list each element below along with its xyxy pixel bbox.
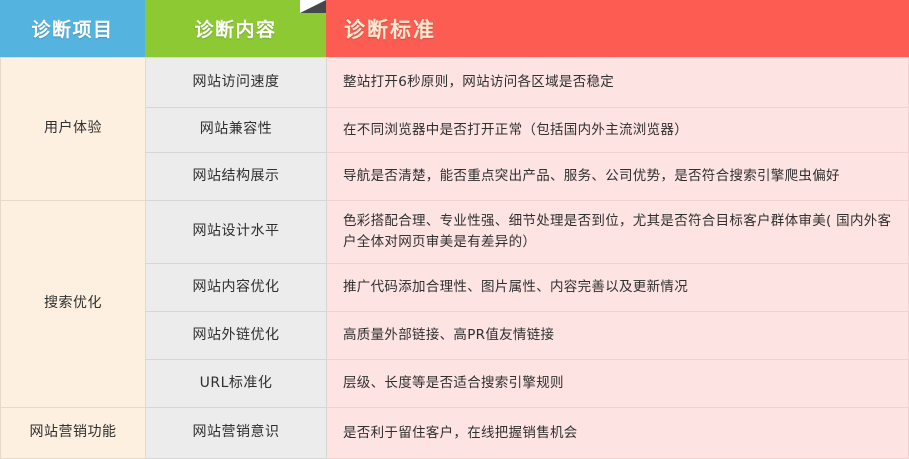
subitem-cell: 网站结构展示 [146,153,327,201]
table-header-row: 诊断项目 诊断内容 诊断标准 [0,0,909,57]
category-cell-search-optimization: 搜索优化 [1,201,146,408]
standard-cell: 在不同浏览器中是否打开正常（包括国内外主流浏览器） [327,108,909,153]
subitem-cell: URL标准化 [146,360,327,408]
standard-cell: 导航是否清楚，能否重点突出产品、服务、公司优势，是否符合搜索引擎爬虫偏好 [327,153,909,201]
subitem-cell: 网站外链优化 [146,312,327,360]
subitem-cell: 网站内容优化 [146,264,327,312]
standard-cell: 色彩搭配合理、专业性强、细节处理是否到位，尤其是否符合目标客户群体审美( 国内外… [327,201,909,264]
table-row: 用户体验 网站访问速度 整站打开6秒原则，网站访问各区域是否稳定 [1,58,909,108]
table-row: 网站营销功能 网站营销意识 是否利于留住客户，在线把握销售机会 [1,408,909,459]
criteria-table-body: 用户体验 网站访问速度 整站打开6秒原则，网站访问各区域是否稳定 网站兼容性 在… [1,58,909,459]
subitem-cell: 网站兼容性 [146,108,327,153]
criteria-table: 用户体验 网站访问速度 整站打开6秒原则，网站访问各区域是否稳定 网站兼容性 在… [0,57,909,459]
category-cell-marketing-function: 网站营销功能 [1,408,146,459]
standard-cell: 推广代码添加合理性、图片属性、内容完善以及更新情况 [327,264,909,312]
standard-cell: 高质量外部链接、高PR值友情链接 [327,312,909,360]
standard-cell: 层级、长度等是否适合搜索引擎规则 [327,360,909,408]
table-row: 搜索优化 网站设计水平 色彩搭配合理、专业性强、细节处理是否到位，尤其是否符合目… [1,201,909,264]
subitem-cell: 网站营销意识 [146,408,327,459]
header-cell-item: 诊断项目 [0,0,145,57]
subitem-cell: 网站设计水平 [146,201,327,264]
category-cell-user-experience: 用户体验 [1,58,146,201]
diagnostic-criteria-table: 诊断项目 诊断内容 诊断标准 用户体验 网站访问速度 整站打开6秒原则，网站访问… [0,0,909,418]
standard-cell: 整站打开6秒原则，网站访问各区域是否稳定 [327,58,909,108]
header-cell-content: 诊断内容 [145,0,326,57]
subitem-cell: 网站访问速度 [146,58,327,108]
header-cell-standard: 诊断标准 [326,0,909,57]
folded-corner-decoration [300,0,326,13]
standard-cell: 是否利于留住客户，在线把握销售机会 [327,408,909,459]
